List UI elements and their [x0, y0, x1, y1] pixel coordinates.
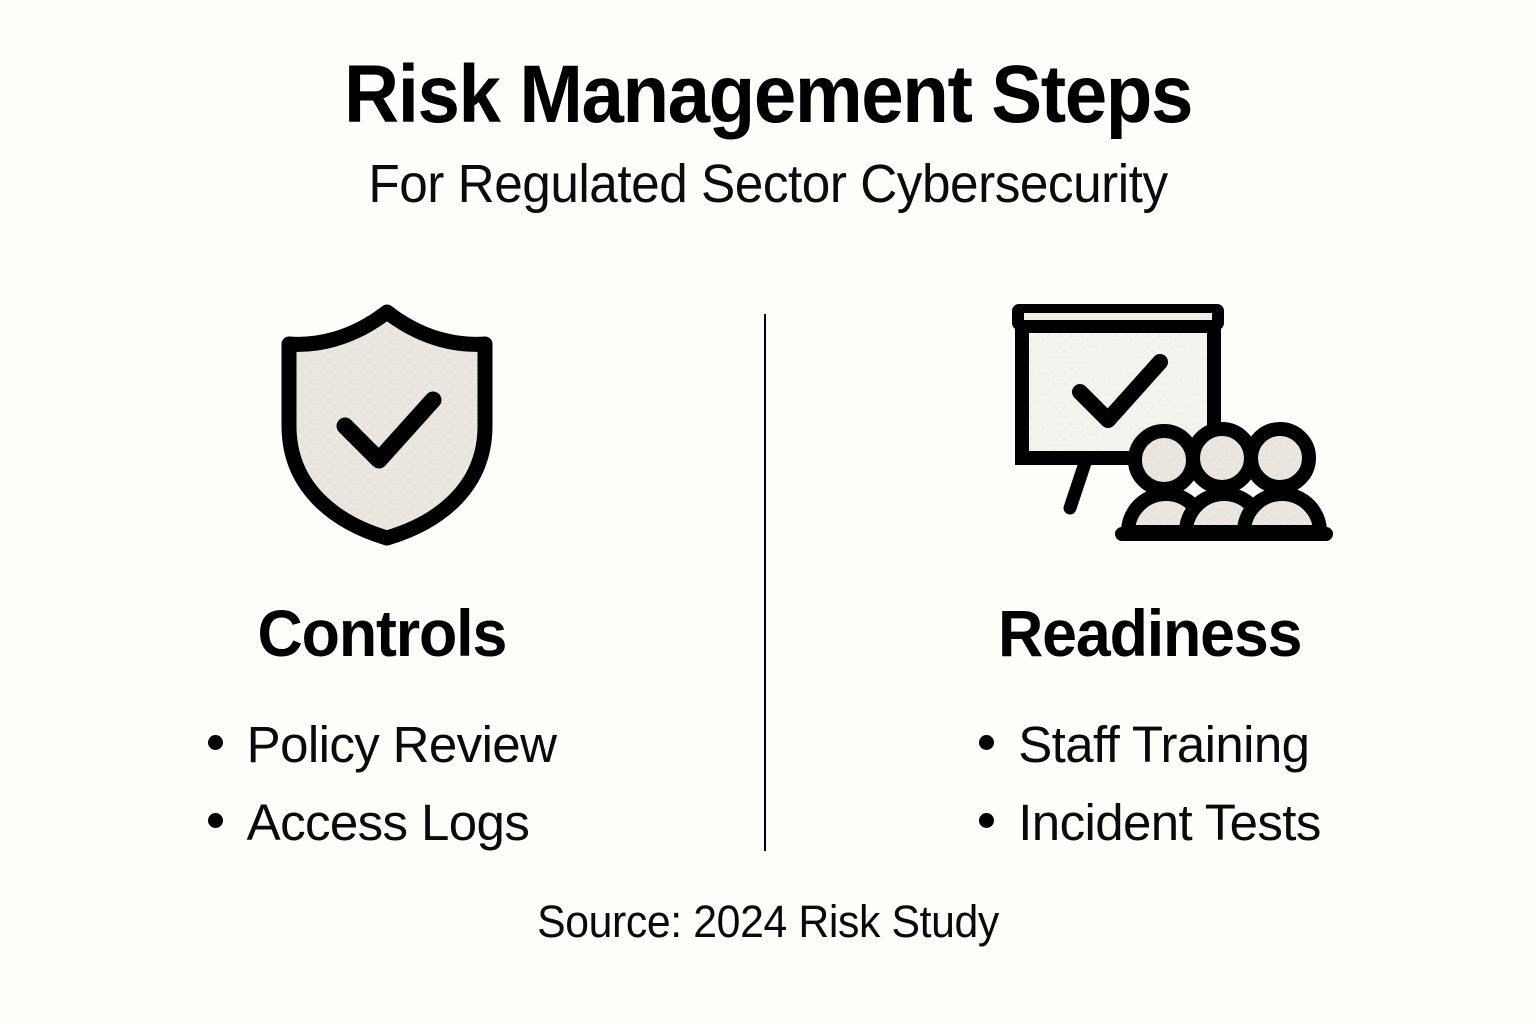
page-title: Risk Management Steps	[54, 52, 1482, 137]
shield-check-icon	[263, 300, 501, 558]
bullet-dot-icon	[979, 735, 994, 750]
list-item: Incident Tests	[979, 784, 1321, 862]
columns-container: Controls Policy Review Access Logs	[0, 300, 1536, 860]
list-item: Access Logs	[208, 784, 557, 862]
list-item: Staff Training	[979, 706, 1321, 784]
bullet-label: Incident Tests	[1018, 784, 1321, 862]
training-presentation-icon	[958, 300, 1342, 558]
bullet-label: Access Logs	[247, 784, 530, 862]
source-caption: Source: 2024 Risk Study	[38, 896, 1497, 948]
page-subtitle: For Regulated Sector Cybersecurity	[38, 155, 1497, 214]
bullet-list-controls: Policy Review Access Logs	[208, 706, 557, 861]
infographic-canvas: Risk Management Steps For Regulated Sect…	[0, 0, 1536, 1024]
bullet-list-readiness: Staff Training Incident Tests	[979, 706, 1321, 861]
column-controls: Controls Policy Review Access Logs	[0, 300, 764, 861]
column-readiness: Readiness Staff Training Incident Tests	[764, 300, 1536, 861]
bullet-dot-icon	[979, 813, 994, 828]
column-heading-controls: Controls	[258, 600, 507, 666]
bullet-label: Policy Review	[247, 706, 557, 784]
list-item: Policy Review	[208, 706, 557, 784]
bullet-label: Staff Training	[1018, 706, 1309, 784]
bullet-dot-icon	[208, 813, 223, 828]
bullet-dot-icon	[208, 735, 223, 750]
header-block: Risk Management Steps For Regulated Sect…	[0, 52, 1536, 215]
column-heading-readiness: Readiness	[998, 600, 1301, 666]
